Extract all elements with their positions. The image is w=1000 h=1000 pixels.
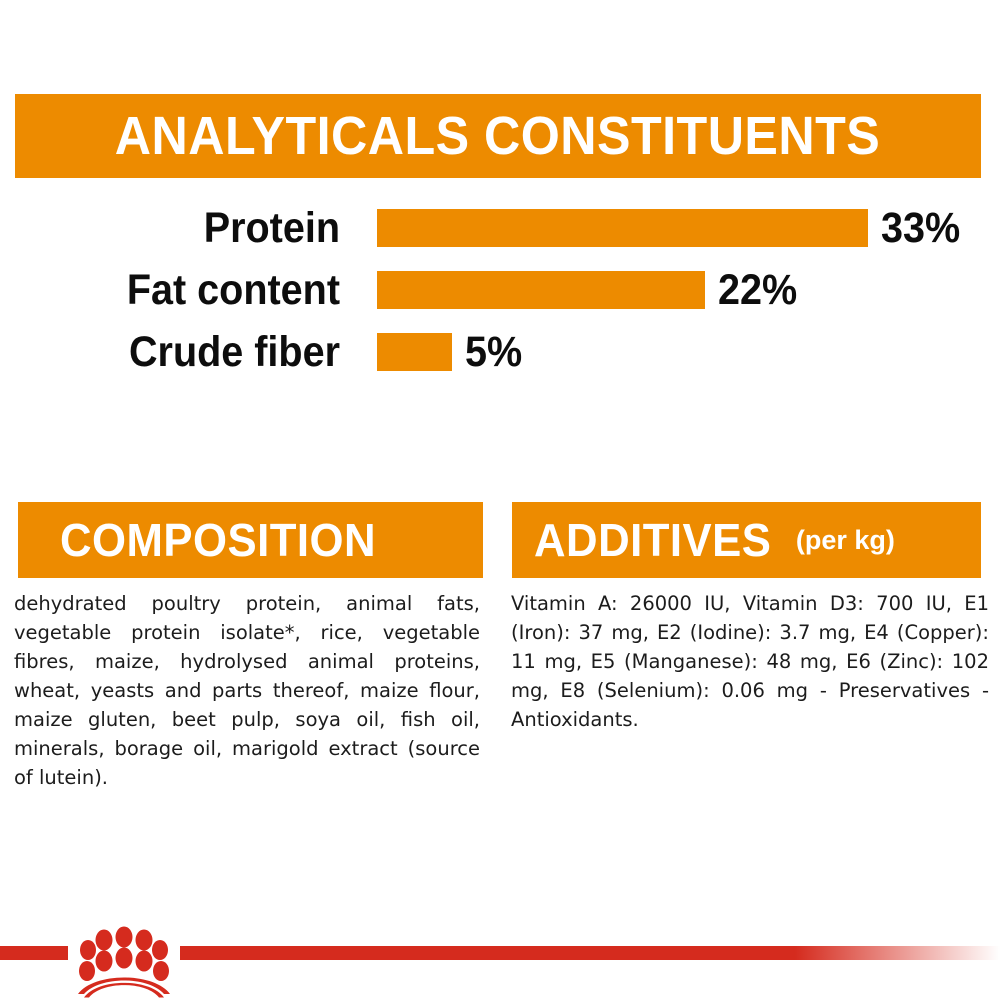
- bar-label-fat-content: Fat content: [27, 269, 340, 312]
- bar-track-protein: 33%: [377, 205, 967, 251]
- composition-title: COMPOSITION: [60, 517, 376, 563]
- bar-track-crude-fiber: 5%: [377, 329, 527, 375]
- bar-row: Fat content 22%: [0, 267, 1000, 313]
- additives-unit-label: (per kg): [796, 527, 895, 554]
- brand-rule-left: [0, 946, 68, 960]
- product-spec-sheet: ANALYTICALS CONSTITUENTS Protein 33% Fat…: [0, 0, 1000, 1000]
- nutrition-bar-chart: Protein 33% Fat content 22% Crude fiber …: [0, 205, 1000, 385]
- brand-rule-right: [180, 946, 1000, 960]
- composition-body-text: dehydrated poultry protein, animal fats,…: [14, 589, 480, 792]
- bar-label-protein: Protein: [27, 207, 340, 250]
- bar-value-fat-content: 22%: [718, 269, 797, 312]
- bar-row: Crude fiber 5%: [0, 329, 1000, 375]
- additives-header: ADDITIVES (per kg): [512, 502, 981, 578]
- bar-value-protein: 33%: [881, 207, 960, 250]
- bar-label-crude-fiber: Crude fiber: [27, 331, 340, 374]
- composition-header: COMPOSITION: [18, 502, 483, 578]
- royal-canin-crown-icon: [68, 920, 180, 998]
- brand-footer: [0, 920, 1000, 1000]
- additives-title: ADDITIVES: [534, 517, 771, 563]
- bar-fill-protein: [377, 209, 868, 247]
- bar-value-crude-fiber: 5%: [465, 331, 522, 374]
- analyticals-constituents-title: ANALYTICALS CONSTITUENTS: [115, 109, 880, 163]
- additives-body-text: Vitamin A: 26000 IU, Vitamin D3: 700 IU,…: [511, 589, 989, 734]
- bar-row: Protein 33%: [0, 205, 1000, 251]
- bar-track-fat-content: 22%: [377, 267, 804, 313]
- bar-fill-crude-fiber: [377, 333, 452, 371]
- analyticals-constituents-header: ANALYTICALS CONSTITUENTS: [15, 94, 981, 178]
- bar-fill-fat-content: [377, 271, 705, 309]
